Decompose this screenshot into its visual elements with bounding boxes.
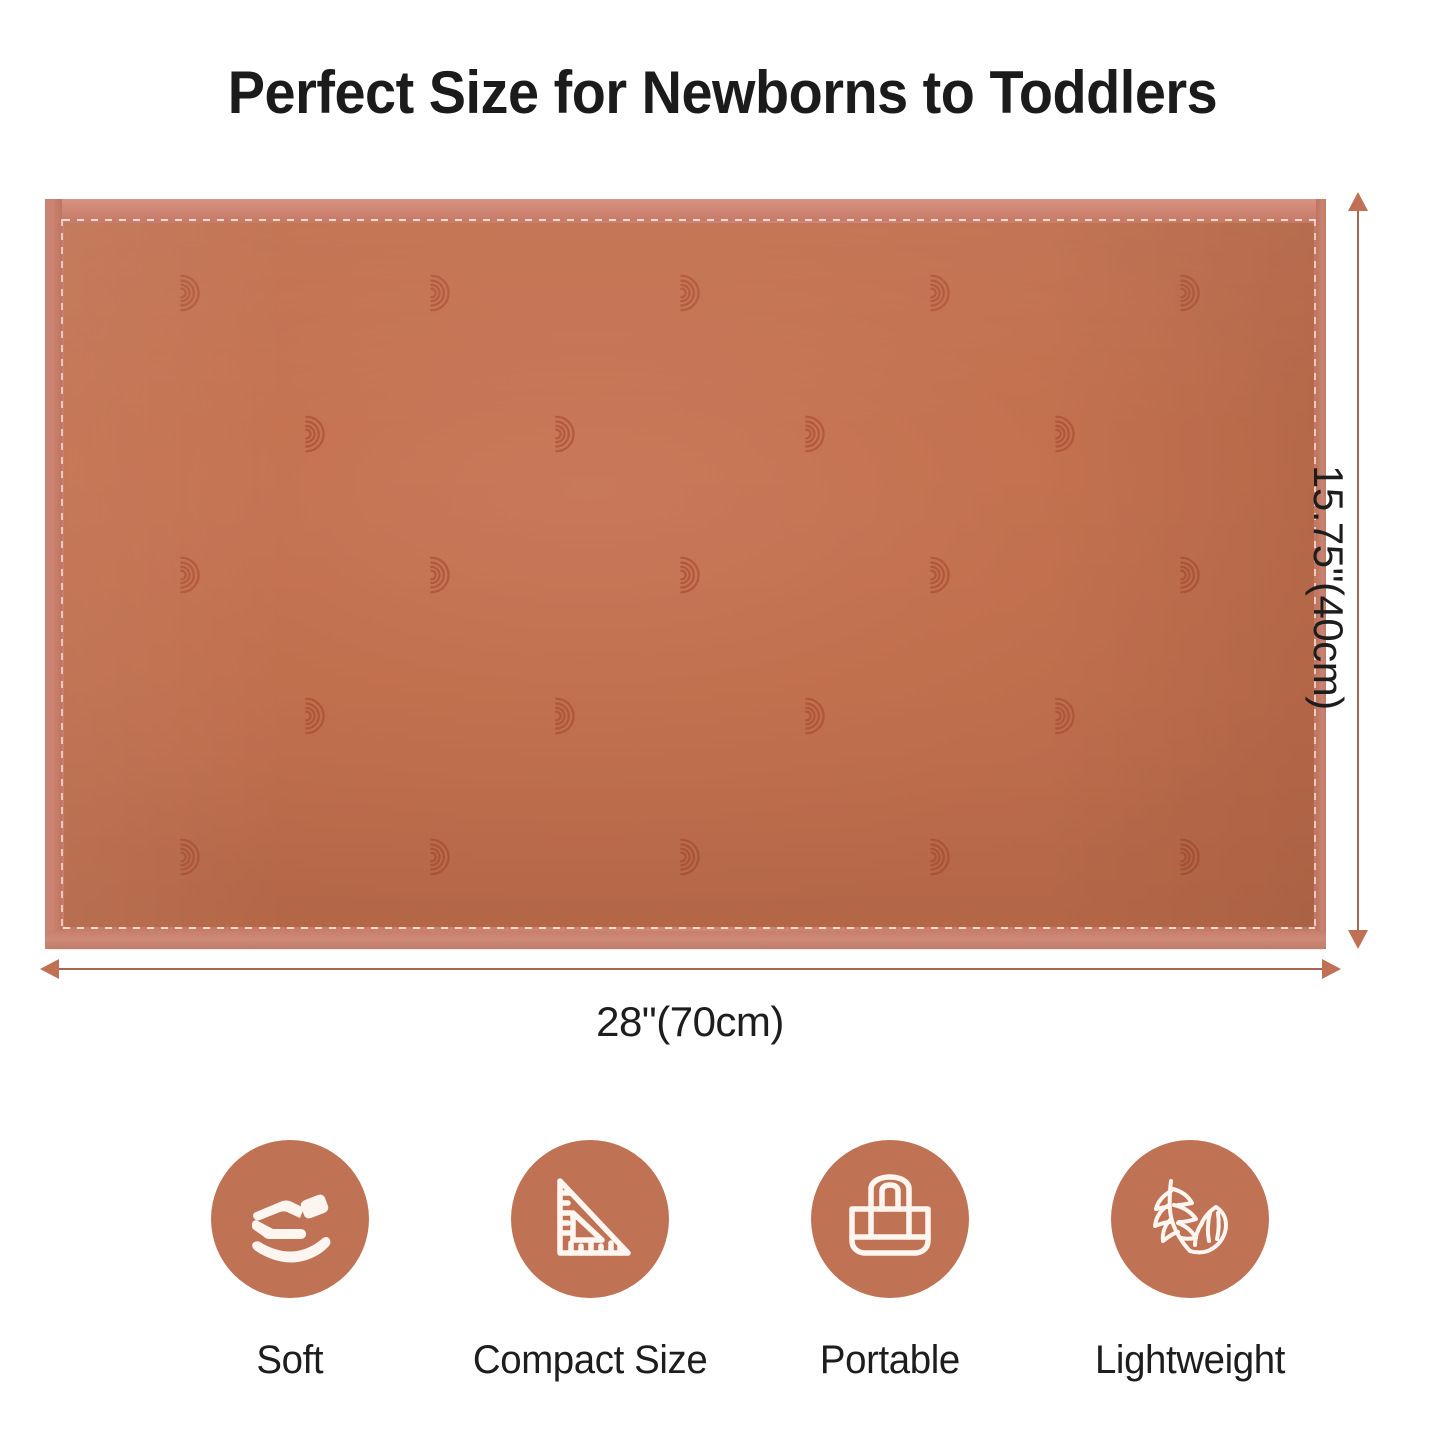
width-dimension-label: 28"(70cm) — [0, 998, 1380, 1046]
width-arrow-left-icon — [40, 959, 59, 979]
tote-bag-icon — [840, 1169, 940, 1269]
feather-icon — [1140, 1169, 1240, 1269]
feature-label: Soft — [257, 1338, 324, 1383]
rainbow-arc-motif — [916, 270, 962, 316]
product-infographic: Perfect Size for Newborns to Toddlers 28… — [0, 0, 1445, 1445]
rainbow-arc-motif — [666, 270, 712, 316]
rainbow-arc-motif — [166, 834, 212, 880]
rainbow-arc-motif — [166, 552, 212, 598]
rainbow-arc-motif — [291, 411, 337, 457]
height-dimension-line — [1357, 208, 1359, 938]
height-dimension-label: 15.75"(40cm) — [1304, 465, 1352, 710]
rainbow-arc-motif — [1166, 552, 1212, 598]
rainbow-arc-motif — [791, 411, 837, 457]
mat-surface — [64, 223, 1314, 927]
rainbow-arc-motif — [1166, 270, 1212, 316]
feature-item-soft: Soft — [170, 1140, 410, 1383]
rainbow-arc-motif — [541, 693, 587, 739]
rainbow-arc-motif — [666, 834, 712, 880]
feature-item-lightweight: Lightweight — [1070, 1140, 1310, 1383]
feature-icon-badge — [511, 1140, 669, 1298]
mat-binding-left — [45, 199, 62, 949]
feature-icon-badge — [811, 1140, 969, 1298]
rainbow-arc-motif — [1041, 411, 1087, 457]
mat-binding-top — [45, 199, 1326, 221]
feature-item-portable: Portable — [770, 1140, 1010, 1383]
feature-icon-badge — [211, 1140, 369, 1298]
rainbow-arc-motif — [416, 552, 462, 598]
height-arrow-down-icon — [1348, 930, 1368, 949]
rainbow-arc-motif — [666, 552, 712, 598]
rainbow-arc-motif — [166, 270, 212, 316]
mat-binding-bottom — [45, 931, 1326, 949]
feature-label: Compact Size — [473, 1338, 707, 1383]
rainbow-arc-motif — [416, 270, 462, 316]
width-dimension-line — [47, 968, 1324, 970]
hand-holding-icon — [240, 1169, 340, 1269]
page-title: Perfect Size for Newborns to Toddlers — [51, 58, 1395, 127]
rainbow-arc-motif — [416, 834, 462, 880]
rainbow-arc-motif — [1166, 834, 1212, 880]
rainbow-arc-motif — [541, 411, 587, 457]
rainbow-arc-motif — [916, 552, 962, 598]
feature-label: Portable — [820, 1338, 960, 1383]
rainbow-arc-motif — [291, 693, 337, 739]
feature-list: Soft — [170, 1140, 1310, 1383]
rainbow-arc-motif — [1041, 693, 1087, 739]
height-arrow-up-icon — [1348, 192, 1368, 211]
ruler-triangle-icon — [540, 1169, 640, 1269]
feature-icon-badge — [1111, 1140, 1269, 1298]
rainbow-arc-motif — [791, 693, 837, 739]
width-arrow-right-icon — [1322, 959, 1341, 979]
feature-item-compact-size: Compact Size — [470, 1140, 710, 1383]
rainbow-arc-motif — [916, 834, 962, 880]
feature-label: Lightweight — [1095, 1338, 1285, 1383]
product-image-changing-mat — [45, 199, 1326, 949]
